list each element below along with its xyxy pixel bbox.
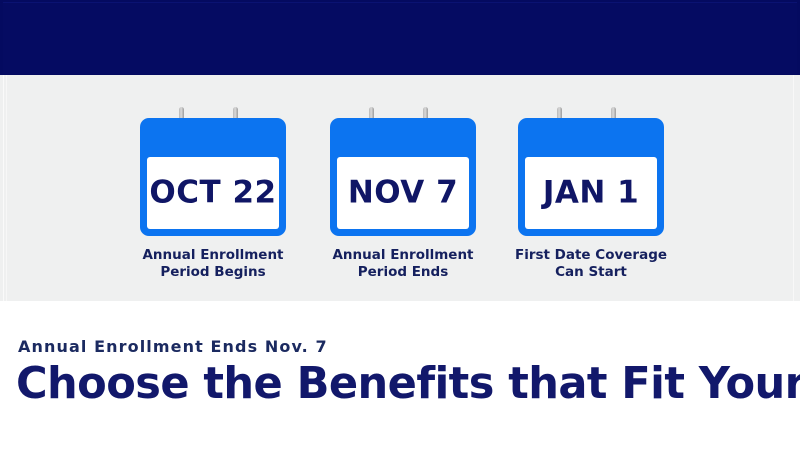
calendar-timeline-band: OCT 22 Annual Enrollment Period Begins N… [0,75,800,301]
calendar-page-1: OCT 22 [147,157,279,229]
calendar-date-2: NOV 7 [337,174,469,210]
top-navy-banner [0,0,800,75]
calendar-row: OCT 22 Annual Enrollment Period Begins N… [0,75,800,301]
calendar-caption-2: Annual Enrollment Period Ends [310,247,496,281]
calendar-icon-3: JAN 1 [518,118,664,236]
calendar-caption-3: First Date Coverage Can Start [498,247,684,281]
poster-root: OCT 22 Annual Enrollment Period Begins N… [0,0,800,450]
calendar-caption-1: Annual Enrollment Period Begins [120,247,306,281]
calendar-page-3: JAN 1 [525,157,657,229]
calendar-icon-2: NOV 7 [330,118,476,236]
calendar-date-1: OCT 22 [147,174,279,210]
footer-text-block: Annual Enrollment Ends Nov. 7 Choose the… [0,301,800,450]
calendar-date-3: JAN 1 [525,174,657,210]
page-title: Choose the Benefits that Fit Your Life [16,358,800,409]
top-navy-banner-inner [3,2,797,74]
calendar-page-2: NOV 7 [337,157,469,229]
calendar-icon-1: OCT 22 [140,118,286,236]
eyebrow-text: Annual Enrollment Ends Nov. 7 [18,337,328,356]
